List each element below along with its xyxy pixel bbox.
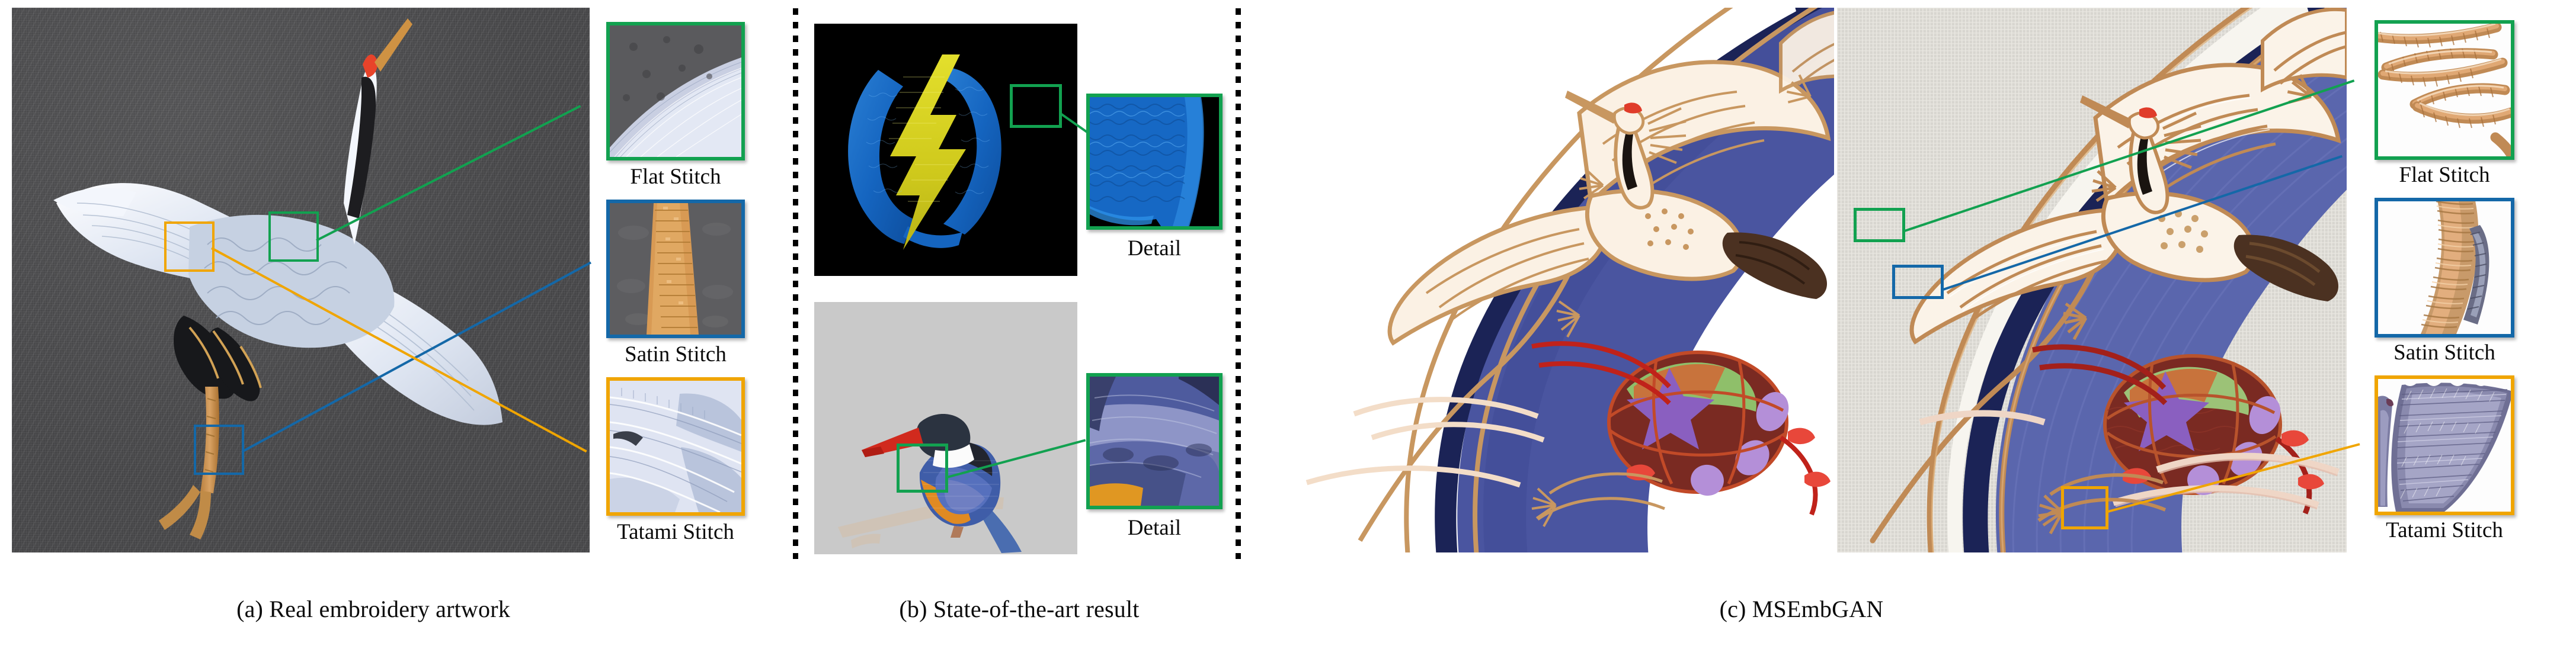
detail-crop-logo-b [1086,94,1223,230]
detail-crop-tatami-c [2375,375,2514,515]
flat-stitch-crop-image-a [610,25,741,157]
panel-a-caption: (a) Real embroidery artwork [95,595,652,623]
detail-crop-label-satin-c: Satin Stitch [2375,340,2514,365]
panel-b-sota-logo-image [814,24,1077,276]
satin-stitch-crop-image-c [2378,201,2511,334]
highlight-box-logo-b [1010,84,1062,128]
panel-separator-2 [1236,8,1241,559]
detail-crop-bird-b [1086,373,1223,509]
satin-stitch-crop-image-a [610,203,741,335]
detail-crop-satin-a [606,200,745,338]
panel-c-vector-input-image [1271,8,1834,552]
detail-crop-label-flat-c: Flat Stitch [2375,162,2514,188]
detail-crop-label-logo-b: Detail [1086,236,1223,261]
crane-embroidery-photo [12,8,590,552]
detail-crop-label-bird-b: Detail [1086,515,1223,541]
tatami-stitch-crop-image-c [2378,379,2511,512]
tatami-stitch-crop-image-a [610,381,741,512]
panel-separator-1 [793,8,798,559]
highlight-box-flat-a [268,211,319,262]
highlight-box-tatami-c [2061,486,2108,529]
detail-crop-logo-image [1090,97,1219,226]
panel-c-caption: (c) MSEmbGAN [1594,595,2009,623]
highlight-box-tatami-a [164,221,215,272]
detail-crop-bird-image [1090,377,1219,506]
panel-b-sota-bird-image [814,302,1077,554]
figure-root: Flat Stitch [0,0,2576,649]
detail-crop-label-flat-a: Flat Stitch [606,164,745,189]
detail-crop-label-tatami-c: Tatami Stitch [2375,518,2514,543]
kingfisher-embroidery-render [814,302,1077,554]
crane-vector-illustration [1271,8,1834,552]
detail-crop-label-tatami-a: Tatami Stitch [606,519,745,545]
detail-crop-label-satin-a: Satin Stitch [606,342,745,367]
panel-b-caption: (b) State-of-the-art result [812,595,1227,623]
flat-stitch-crop-image-c [2378,24,2511,156]
detail-crop-flat-a [606,22,745,160]
highlight-box-satin-c [1892,265,1944,299]
highlight-box-flat-c [1854,208,1905,242]
highlight-box-bird-b [897,444,948,493]
highlight-box-satin-a [194,425,244,475]
panel-a-source-photo [12,8,590,552]
detail-crop-satin-c [2375,198,2514,338]
detail-crop-flat-c [2375,20,2514,160]
detail-crop-tatami-a [606,377,745,516]
lightning-logo-embroidery [814,24,1077,276]
